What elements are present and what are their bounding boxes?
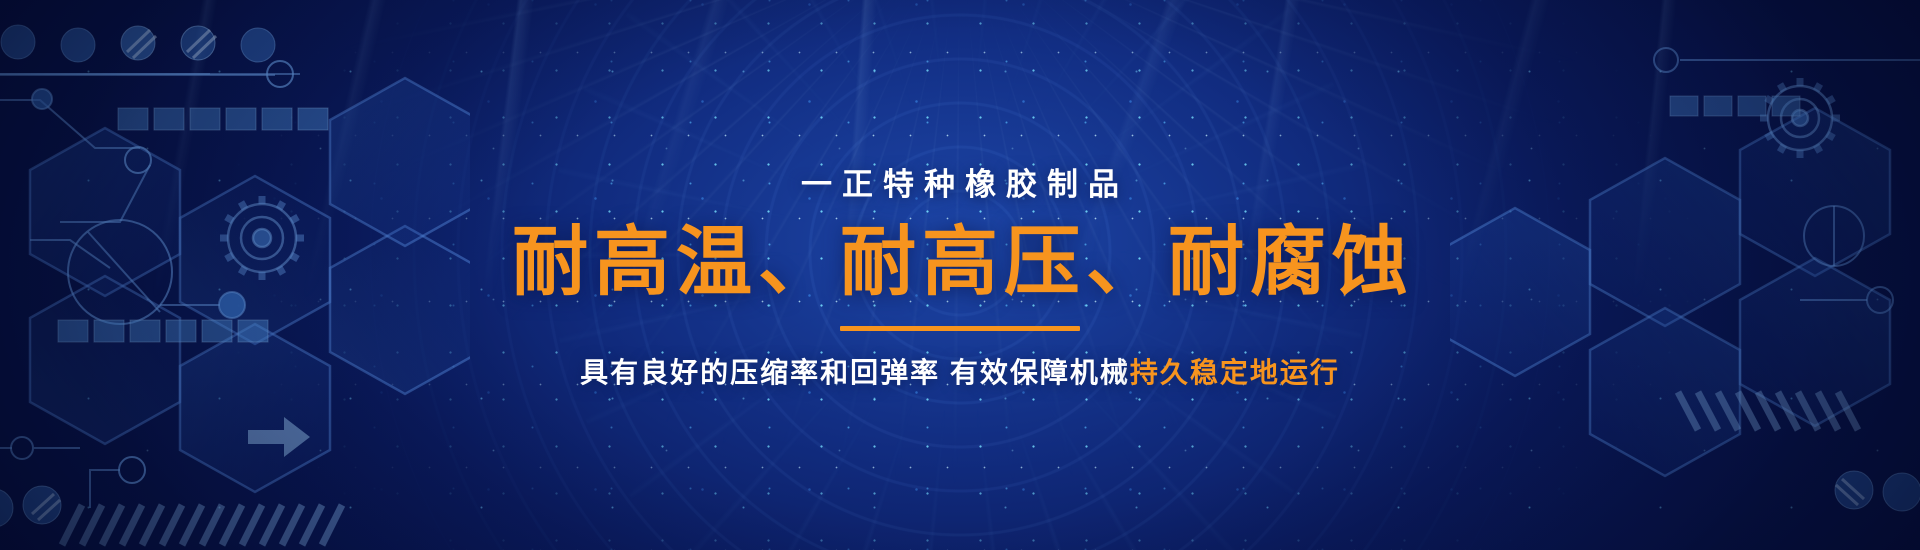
divider-rule xyxy=(840,326,1080,331)
brand-eyebrow: 一正特种橡胶制品 xyxy=(791,159,1129,204)
subtitle-plain-text: 具有良好的压缩率和回弹率 有效保障机械 xyxy=(580,357,1130,388)
headline: 耐高温、耐高压、耐腐蚀 xyxy=(506,222,1414,304)
hero-banner: 一正特种橡胶制品 耐高温、耐高压、耐腐蚀 具有良好的压缩率和回弹率 有效保障机械… xyxy=(0,0,1920,550)
subtitle-highlight-text: 持久稳定地运行 xyxy=(1130,357,1340,388)
banner-content: 一正特种橡胶制品 耐高温、耐高压、耐腐蚀 具有良好的压缩率和回弹率 有效保障机械… xyxy=(0,0,1920,550)
subtitle: 具有良好的压缩率和回弹率 有效保障机械持久稳定地运行 xyxy=(580,351,1340,391)
